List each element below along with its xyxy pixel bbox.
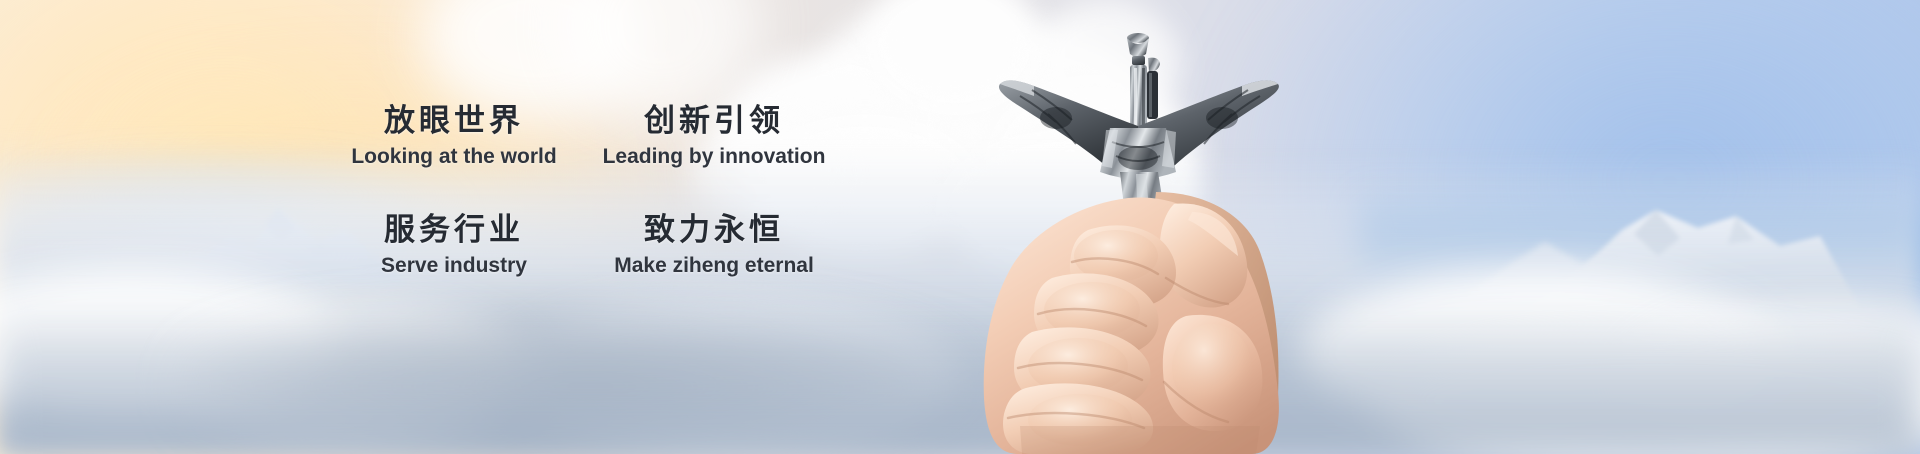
slogan-item-1: 放眼世界 Looking at the world	[325, 103, 583, 172]
slogan-chinese-2: 创新引领	[583, 103, 845, 141]
slogan-chinese-1: 放眼世界	[325, 103, 583, 141]
hero-banner: 放眼世界 Looking at the world 创新引领 Leading b…	[0, 0, 1920, 454]
hands-holding-sword-illustration	[960, 16, 1320, 454]
slogan-item-2: 创新引领 Leading by innovation	[583, 103, 845, 172]
slogan-item-3: 服务行业 Serve industry	[325, 212, 583, 281]
slogan-block: 放眼世界 Looking at the world 创新引领 Leading b…	[325, 103, 845, 282]
slogan-item-4: 致力永恒 Make ziheng eternal	[583, 212, 845, 281]
slogan-english-2: Leading by innovation	[583, 141, 845, 173]
slogan-english-4: Make ziheng eternal	[583, 250, 845, 282]
slogan-chinese-4: 致力永恒	[583, 212, 845, 250]
slogan-english-1: Looking at the world	[325, 141, 583, 173]
clasped-hands	[984, 192, 1279, 454]
slogan-row-spacer	[325, 172, 845, 212]
slogan-english-3: Serve industry	[325, 250, 583, 282]
sword-pommel	[1127, 33, 1149, 65]
slogan-chinese-3: 服务行业	[325, 212, 583, 250]
